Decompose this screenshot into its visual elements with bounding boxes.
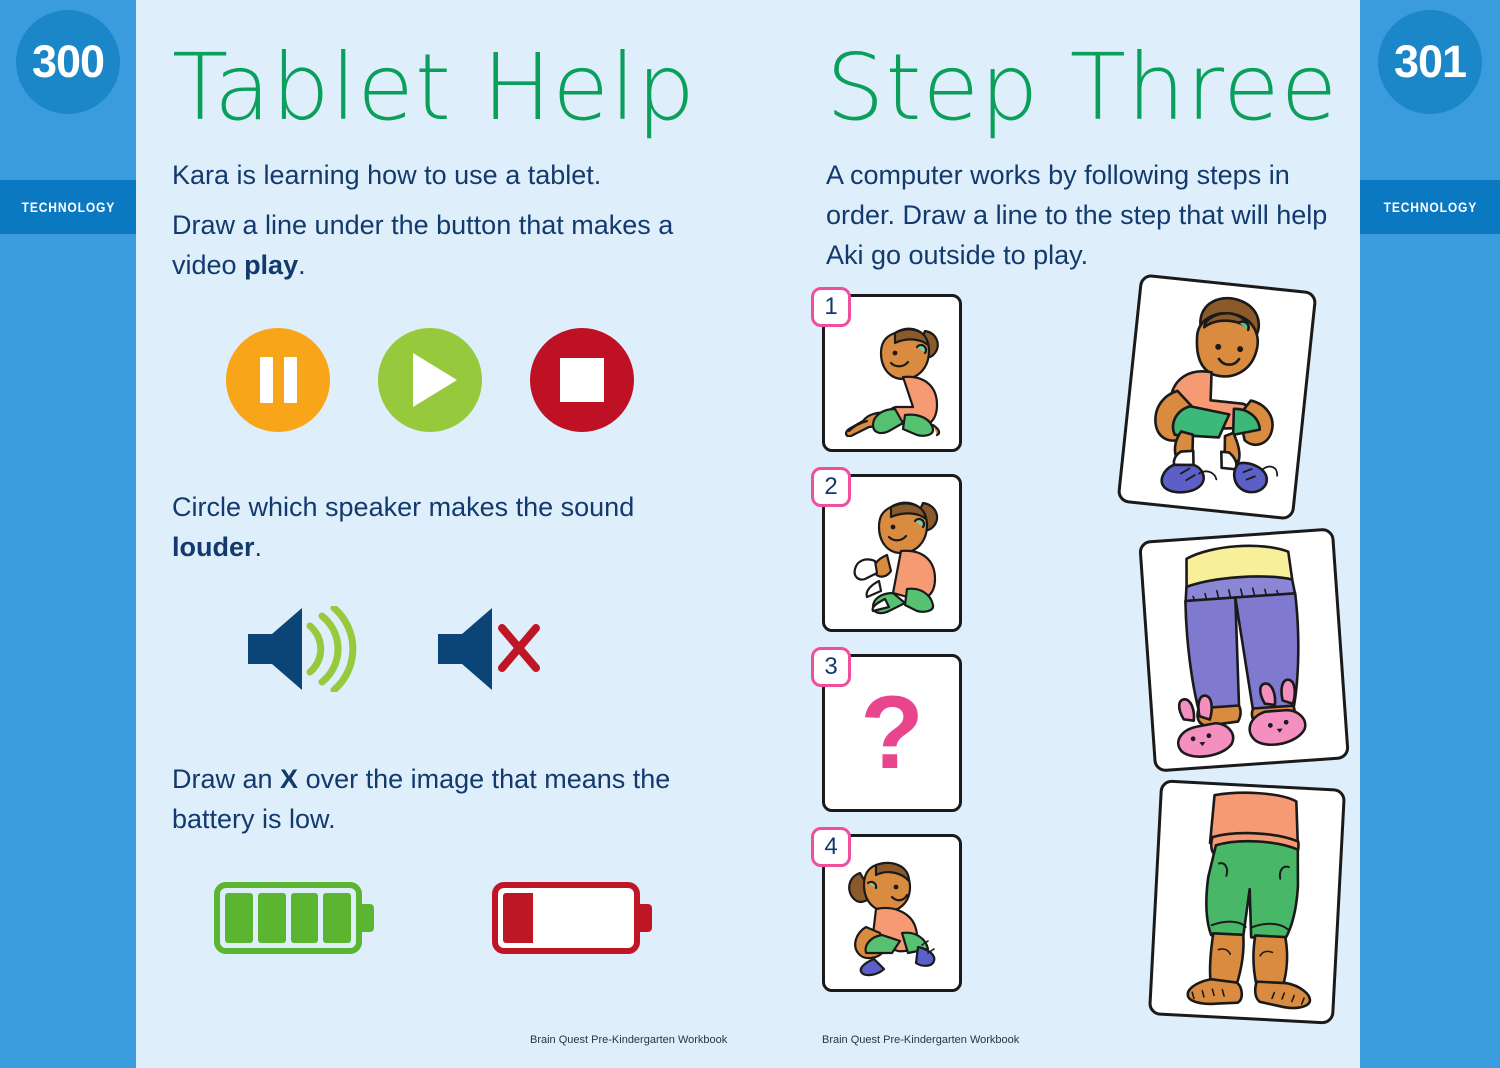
play-button[interactable] [378,328,482,432]
question-mark-icon: ? [860,681,924,785]
section-band-right: TECHNOLOGY [1360,180,1500,234]
girl-tying-sneakers-illustration [1120,276,1314,517]
footer-left: Brain Quest Pre-Kindergarten Workbook [530,1034,727,1046]
step-card-list: 1 [822,294,962,1014]
page-number-bubble-left: 300 [16,10,120,114]
play-icon [413,353,457,407]
media-button-row [136,286,800,432]
pajama-pants-bunny-slippers-illustration [1141,531,1346,770]
footer-right: Brain Quest Pre-Kindergarten Workbook [822,1034,1019,1046]
prompt-block-right: A computer works by following steps in o… [800,134,1336,276]
step-card-4[interactable]: 4 [822,834,962,992]
pause-icon [260,357,297,403]
girl-sitting-barefoot-illustration [833,309,951,437]
step-badge-2: 2 [811,467,851,507]
prompt-2-prefix: Circle which speaker makes the sound [172,492,634,522]
prompt-block-1: Kara is learning how to use a tablet. Dr… [136,134,702,286]
right-page: Step Three A computer works by following… [800,0,1360,1068]
girl-putting-on-socks-illustration [833,489,951,617]
prompt-2-bold-word: louder [172,532,255,562]
right-page-rail: 301 TECHNOLOGY [1360,0,1500,1068]
page-number-left: 300 [32,36,104,88]
answer-card-tying-shoes[interactable] [1116,273,1317,520]
battery-full-icon [214,882,362,954]
left-page: Tablet Help Kara is learning how to use … [136,0,800,1068]
battery-low-icon [492,882,640,954]
prompt-1-bold-word: play [244,250,298,280]
step-card-2[interactable]: 2 [822,474,962,632]
battery-row [136,840,800,954]
page-title-right: Step Three [800,0,1360,134]
speaker-row [136,568,800,692]
page-title-left: Tablet Help [136,0,800,134]
step-badge-4: 4 [811,827,851,867]
speaker-muted-icon [434,606,542,692]
prompt-2-suffix: . [255,532,263,562]
stop-button[interactable] [530,328,634,432]
green-shorts-bare-feet-illustration [1151,782,1343,1021]
answer-card-pajamas-slippers[interactable] [1138,527,1350,772]
workbook-spread: 300 TECHNOLOGY Tablet Help Kara is learn… [0,0,1500,1068]
answer-card-list [1118,276,1358,1036]
step-badge-1: 1 [811,287,851,327]
step-badge-3: 3 [811,647,851,687]
battery-terminal [639,904,652,932]
speaker-with-waves-icon [244,606,362,692]
prompt-3-prefix: Draw an [172,764,280,794]
girl-tying-shoes-illustration [832,849,952,977]
step-card-3[interactable]: 3 ? [822,654,962,812]
prompt-block-3: Draw an X over the image that means the … [136,692,702,840]
answer-card-shorts-bare-feet[interactable] [1148,779,1346,1024]
stop-icon [560,358,604,402]
prompt-1-line-1: Kara is learning how to use a tablet. [172,156,702,196]
section-band-left: TECHNOLOGY [0,180,136,234]
battery-full[interactable] [214,882,374,954]
section-label-left: TECHNOLOGY [21,199,115,215]
activity-area: 1 [800,276,1360,1036]
pause-button[interactable] [226,328,330,432]
prompt-3: Draw an X over the image that means the … [172,760,702,840]
step-card-1[interactable]: 1 [822,294,962,452]
speaker-muted[interactable] [434,606,542,692]
prompt-block-2: Circle which speaker makes the sound lou… [136,432,702,568]
speaker-loud[interactable] [244,606,362,692]
prompt-3-bold-word: X [280,764,298,794]
battery-low[interactable] [492,882,652,954]
left-page-rail: 300 TECHNOLOGY [0,0,136,1068]
prompt-right: A computer works by following steps in o… [826,156,1336,276]
battery-terminal [361,904,374,932]
prompt-1-suffix: . [298,250,306,280]
page-number-bubble-right: 301 [1378,10,1482,114]
page-number-right: 301 [1394,36,1466,88]
section-label-right: TECHNOLOGY [1383,199,1477,215]
prompt-2: Circle which speaker makes the sound lou… [172,488,702,568]
prompt-1-line-2: Draw a line under the button that makes … [172,206,702,286]
